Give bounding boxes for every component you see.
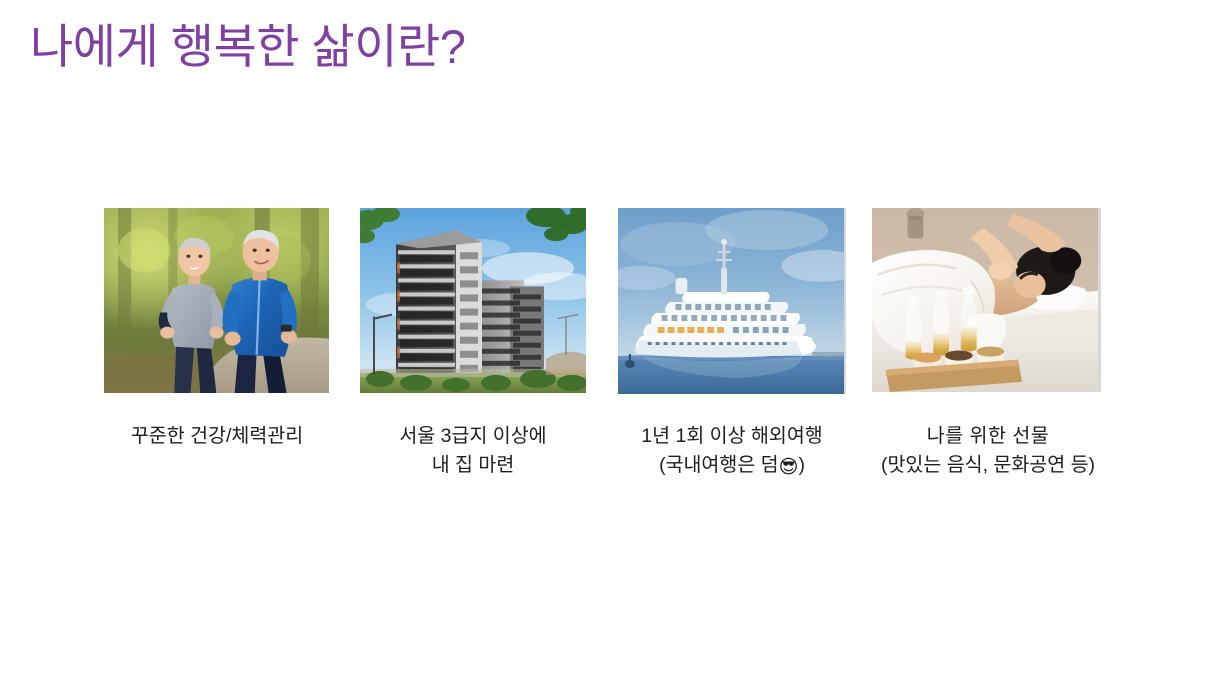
- card-caption-health: 꾸준한 건강/체력관리: [77, 422, 357, 451]
- caption-line: 꾸준한 건강/체력관리: [77, 422, 357, 451]
- cruise-ship-photo: [618, 208, 846, 394]
- sunglasses-face-icon: 😎: [779, 456, 799, 478]
- spa-massage-photo: [872, 208, 1101, 392]
- caption-line: 내 집 마련: [333, 451, 613, 480]
- senior-couple-jogging-photo: [104, 208, 329, 393]
- slide-canvas: 나에게 행복한 삶이란?: [0, 0, 1216, 684]
- content-card-health: 꾸준한 건강/체력관리: [104, 208, 329, 393]
- card-caption-travel: 1년 1회 이상 해외여행 (국내여행은 덤😎): [592, 422, 872, 482]
- content-card-home: 서울 3급지 이상에 내 집 마련: [360, 208, 586, 393]
- caption-line-text: (국내여행은 덤: [659, 454, 779, 476]
- caption-line: 1년 1회 이상 해외여행: [592, 422, 872, 451]
- page-title: 나에게 행복한 삶이란?: [30, 16, 465, 78]
- caption-line-tail: ): [798, 454, 805, 476]
- apartment-building-photo: [360, 208, 586, 393]
- card-caption-home: 서울 3급지 이상에 내 집 마련: [333, 422, 613, 480]
- caption-line: 서울 3급지 이상에: [333, 422, 613, 451]
- caption-line: (맛있는 음식, 문화공연 등): [848, 451, 1128, 480]
- card-caption-gift: 나를 위한 선물 (맛있는 음식, 문화공연 등): [848, 422, 1128, 480]
- content-card-travel: 1년 1회 이상 해외여행 (국내여행은 덤😎): [618, 208, 846, 394]
- content-card-gift: 나를 위한 선물 (맛있는 음식, 문화공연 등): [872, 208, 1101, 392]
- caption-line: (국내여행은 덤😎): [592, 451, 872, 482]
- caption-line: 나를 위한 선물: [848, 422, 1128, 451]
